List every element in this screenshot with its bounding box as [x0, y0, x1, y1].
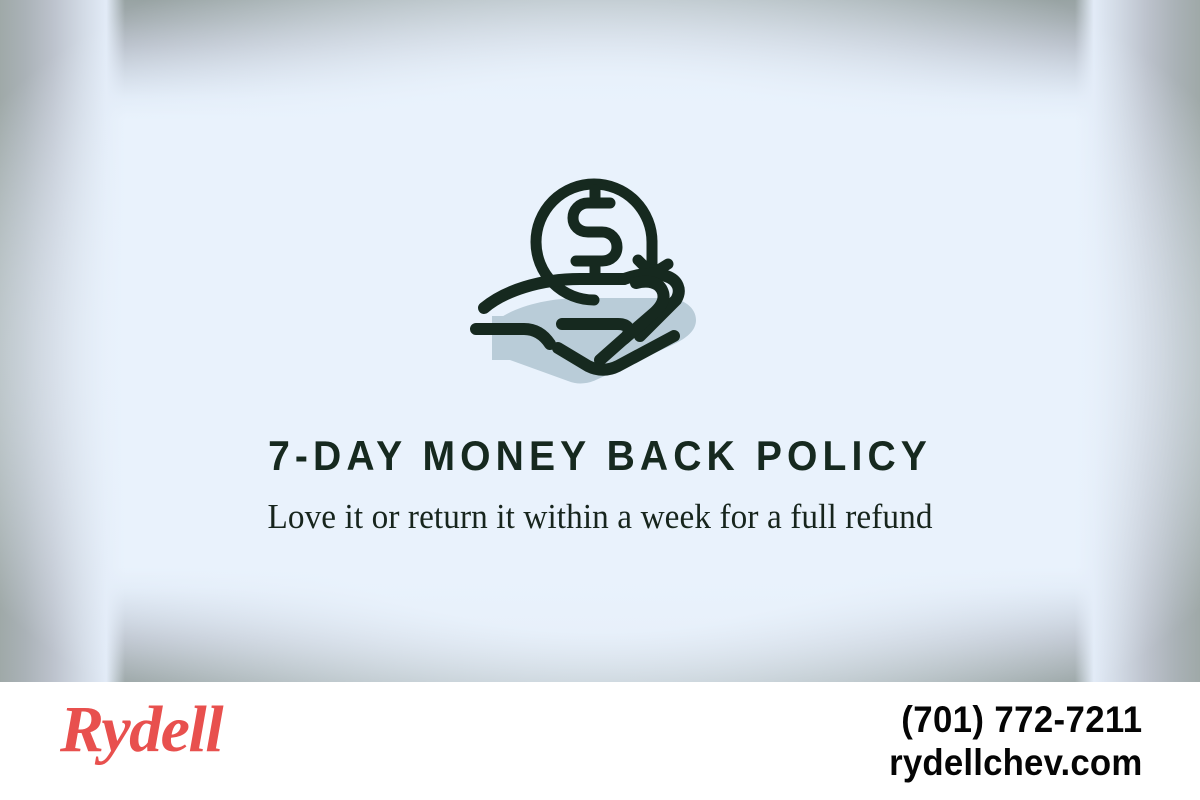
website-url[interactable]: rydellchev.com [889, 741, 1142, 784]
icon-container [0, 148, 1200, 393]
money-back-hand-icon [470, 148, 730, 393]
page-subtitle: Love it or return it within a week for a… [258, 494, 942, 539]
dollar-sign-icon [573, 190, 617, 275]
vignette-top-edge [0, 0, 1200, 120]
contact-block: (701) 772-7211 rydellchev.com [873, 698, 1142, 784]
page-title: 7-DAY MONEY BACK POLICY [42, 432, 1158, 480]
vignette-bottom-edge [0, 567, 1200, 682]
phone-number[interactable]: (701) 772-7211 [889, 698, 1142, 741]
rydell-logo[interactable]: Rydell [60, 697, 222, 763]
promo-poster: 7-DAY MONEY BACK POLICY Love it or retur… [0, 0, 1200, 800]
